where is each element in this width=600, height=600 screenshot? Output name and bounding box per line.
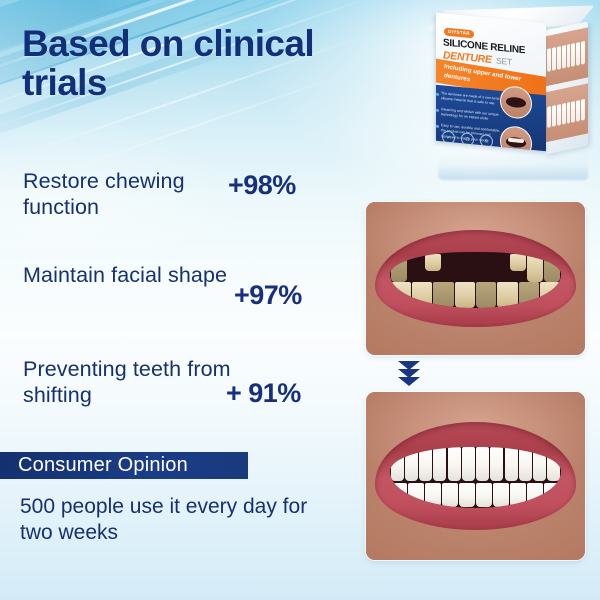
product-box-reflection: [438, 154, 589, 180]
before-upper-teeth: [390, 254, 561, 283]
product-box: DIYSTAR SILICONE RELINE DENTURE SET Incl…: [428, 4, 594, 174]
benefits-list: Restore chewing function +98% Maintain f…: [20, 168, 350, 450]
after-photo: [366, 392, 585, 560]
benefit-label: Maintain facial shape: [23, 262, 241, 288]
brand-badge: DIYSTAR: [444, 27, 474, 37]
benefit-row: Restore chewing function +98%: [20, 168, 350, 230]
consumer-opinion-text: 500 people use it every day for two week…: [20, 494, 340, 547]
consumer-opinion-banner: Consumer Opinion: [0, 452, 248, 479]
product-box-front-panel: DIYSTAR SILICONE RELINE DENTURE SET Incl…: [436, 13, 546, 152]
benefit-percent: +98%: [228, 170, 344, 201]
product-blue-panel: The dentures are made of a non-toxic sil…: [436, 84, 546, 151]
transition-arrows: [0, 355, 600, 393]
recycle-icon: ♺: [461, 132, 474, 146]
product-bullet: The dentures are made of a non-toxic sil…: [441, 91, 503, 107]
page-title: Based on clinical trials: [22, 24, 372, 102]
consumer-opinion-label: Consumer Opinion: [0, 454, 188, 477]
before-lower-teeth: [390, 282, 561, 307]
product-bullet: Gleaming and whiten with our unique tech…: [441, 107, 503, 123]
person-approved-icon: ☺: [480, 134, 493, 148]
before-photo-mouth: [390, 252, 561, 307]
benefit-label: Restore chewing function: [23, 168, 241, 220]
product-title-line3: SET: [496, 55, 512, 67]
side-denture-photo-lower: [544, 83, 588, 142]
after-lower-teeth: [390, 483, 561, 507]
benefit-percent: +97%: [234, 280, 350, 311]
after-upper-teeth: [390, 447, 561, 481]
before-photo: [366, 202, 585, 355]
benefit-row: Maintain facial shape +97%: [20, 262, 350, 324]
after-photo-mouth: [390, 447, 561, 507]
product-box-side-panel: [544, 21, 588, 154]
chevron-down-icon: [398, 377, 420, 386]
after-thumbnail-photo: [500, 125, 532, 151]
quality-seal-icon: ✓: [442, 130, 455, 144]
side-denture-photo-upper: [544, 27, 588, 86]
advertisement-canvas: Based on clinical trials Restore chewing…: [0, 0, 600, 600]
